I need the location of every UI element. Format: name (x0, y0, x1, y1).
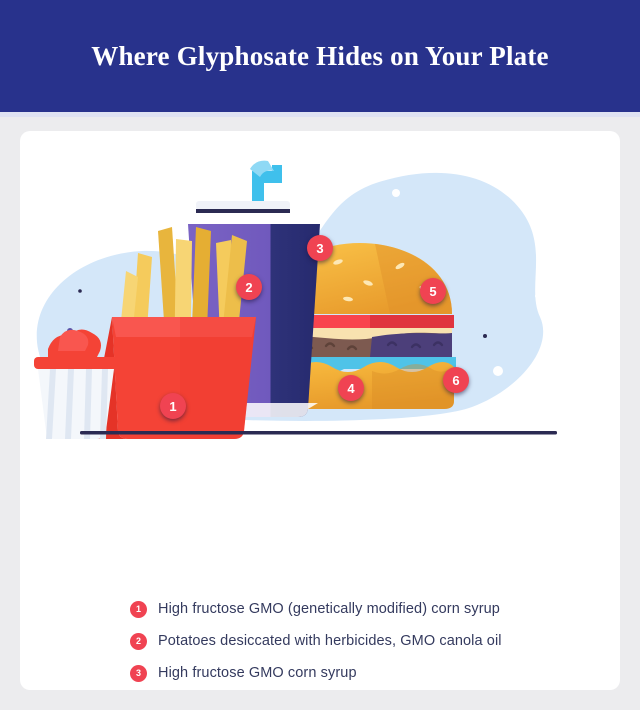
header-underline (0, 112, 640, 117)
legend-text-1: High fructose GMO (genetically modified)… (158, 601, 500, 617)
page-title: Where Glyphosate Hides on Your Plate (91, 41, 548, 72)
legend-text-3: High fructose GMO corn syrup (158, 665, 357, 681)
header-banner: Where Glyphosate Hides on Your Plate (0, 0, 640, 112)
infographic-root: Where Glyphosate Hides on Your Plate (0, 0, 640, 710)
legend-text-2: Potatoes desiccated with herbicides, GMO… (158, 633, 502, 649)
legend-badge-3: 3 (130, 665, 147, 682)
legend-list: 1 High fructose GMO (genetically modifie… (130, 593, 600, 690)
illustration-marker-3: 3 (307, 235, 333, 261)
illustration-marker-4: 4 (338, 375, 364, 401)
list-item: 4 Cows fed GMO corn & soy, GMO soy prote… (130, 689, 600, 690)
list-item: 1 High fructose GMO (genetically modifie… (130, 593, 600, 625)
illustration-marker-2: 2 (236, 274, 262, 300)
illustration-marker-1: 1 (160, 393, 186, 419)
content-card: 1 High fructose GMO (genetically modifie… (20, 131, 620, 690)
legend-badge-2: 2 (130, 633, 147, 650)
legend-badge-1: 1 (130, 601, 147, 618)
illustration-marker-5: 5 (420, 278, 446, 304)
illustration-marker-6: 6 (443, 367, 469, 393)
fast-food-illustration (20, 131, 620, 441)
list-item: 2 Potatoes desiccated with herbicides, G… (130, 625, 600, 657)
list-item: 3 High fructose GMO corn syrup (130, 657, 600, 689)
table-line (80, 431, 557, 435)
